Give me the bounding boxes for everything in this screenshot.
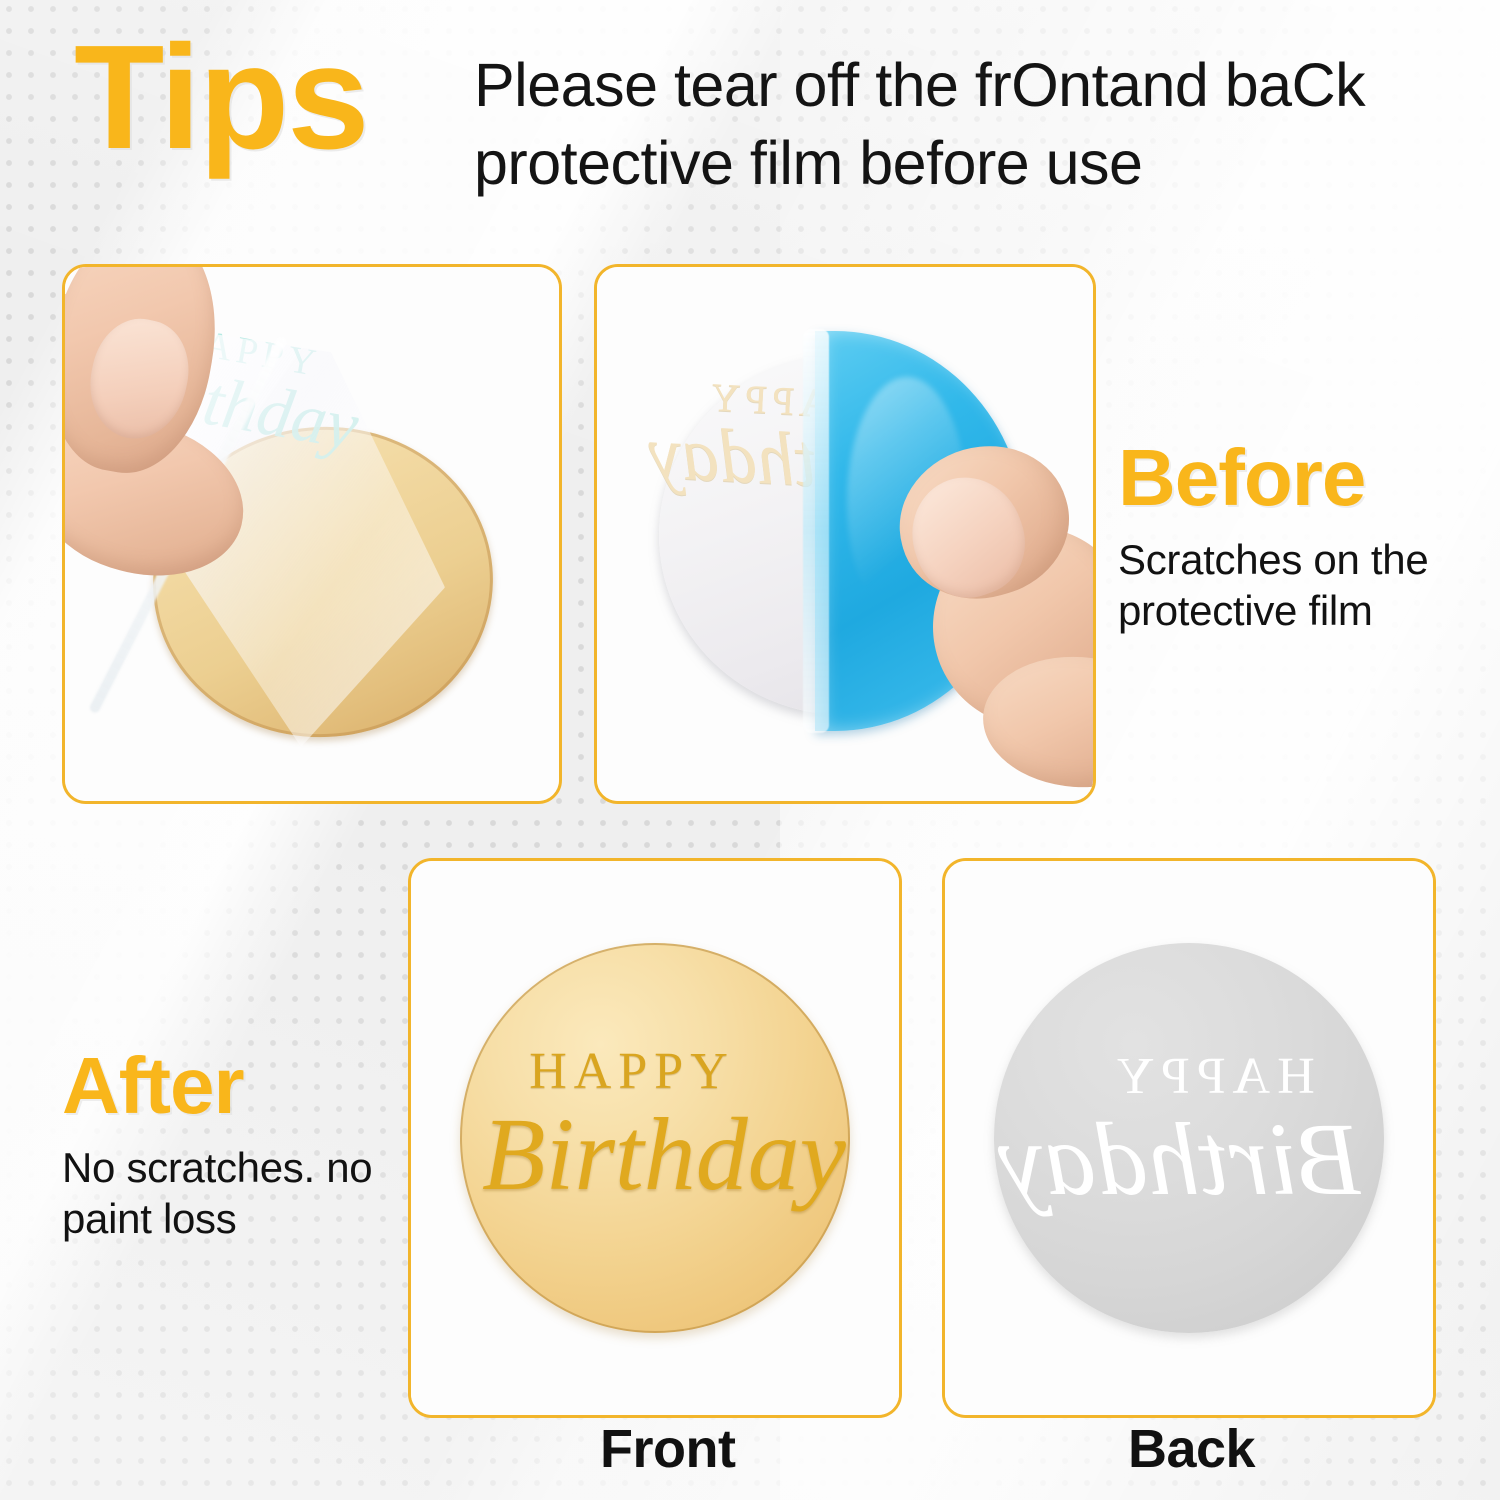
header-instruction-text: Please tear off the frOntand baCk protec… bbox=[474, 46, 1474, 202]
callout-after-body: No scratches. no paint loss bbox=[62, 1142, 422, 1244]
film-fold-edge bbox=[803, 329, 829, 733]
gold-front-disc: HAPPY Birthday bbox=[460, 943, 850, 1333]
callout-after: After No scratches. no paint loss bbox=[62, 1046, 422, 1244]
disc-birthday-text: Birthday bbox=[998, 1108, 1362, 1212]
disc-birthday-text: Birthday bbox=[482, 1103, 846, 1207]
photo-back-disc: HAPPY Birthday bbox=[945, 861, 1433, 1415]
photo-panel-front-disc: HAPPY Birthday bbox=[408, 858, 902, 1418]
tips-badge: Tips bbox=[74, 24, 368, 172]
hand-peeling-blue-film bbox=[873, 427, 1096, 757]
photo-panel-peel-back-film: HAPPY Birthday bbox=[594, 264, 1096, 804]
photo-peel-back-film: HAPPY Birthday bbox=[597, 267, 1093, 801]
caption-front: Front bbox=[600, 1418, 735, 1480]
silver-back-disc: HAPPY Birthday bbox=[994, 943, 1384, 1333]
hand-peeling-film bbox=[62, 264, 305, 553]
mirrored-text-group: HAPPY Birthday bbox=[998, 1065, 1380, 1212]
callout-before-title: Before bbox=[1118, 438, 1488, 518]
callout-before: Before Scratches on the protective film bbox=[1118, 438, 1488, 636]
callout-after-title: After bbox=[62, 1046, 422, 1126]
caption-back: Back bbox=[1128, 1418, 1255, 1480]
photo-panel-peel-front-film: HAPPY Birthday bbox=[62, 264, 562, 804]
disc-happy-text: HAPPY bbox=[529, 1042, 735, 1101]
photo-peel-front-film: HAPPY Birthday bbox=[65, 267, 559, 801]
disc-happy-text: HAPPY bbox=[1109, 1047, 1315, 1106]
photo-front-disc: HAPPY Birthday bbox=[411, 861, 899, 1415]
callout-before-body: Scratches on the protective film bbox=[1118, 534, 1488, 636]
infographic-canvas: Tips Please tear off the frOntand baCk p… bbox=[0, 0, 1500, 1500]
photo-panel-back-disc: HAPPY Birthday bbox=[942, 858, 1436, 1418]
